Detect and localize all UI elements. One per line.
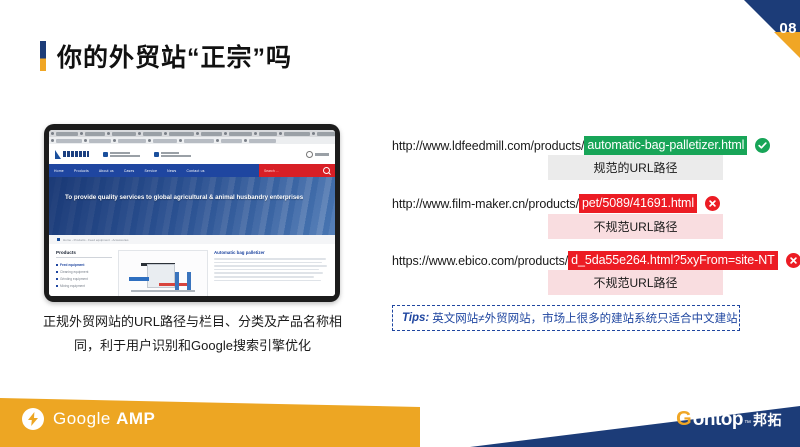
google-amp-badge: Google AMP bbox=[22, 408, 155, 430]
bookmark-favicon-icon bbox=[179, 139, 182, 142]
url-example-row-1: http://www.ldfeedmill.com/products/autom… bbox=[392, 136, 770, 155]
bookmark-favicon-icon bbox=[216, 139, 219, 142]
x-circle-icon bbox=[786, 253, 800, 268]
contact-lines bbox=[161, 152, 191, 157]
tips-callout: Tips: 英文网站≠外贸网站，市场上很多的建站系统只适合中文建站 bbox=[392, 305, 740, 331]
tips-text: 英文网站≠外贸网站，市场上很多的建站系统只适合中文建站 bbox=[432, 310, 737, 326]
url-base-text: http://www.film-maker.cn/products/ bbox=[392, 197, 579, 211]
browser-tab[interactable] bbox=[112, 132, 136, 136]
header-contact-email bbox=[103, 152, 140, 157]
browser-tab[interactable] bbox=[201, 132, 222, 136]
bookmark-item[interactable] bbox=[153, 139, 177, 143]
browser-tab[interactable] bbox=[284, 132, 310, 136]
text-line bbox=[214, 265, 327, 267]
url-highlight-segment: d_5da55e264.html?5xyFrom=site-NT bbox=[568, 251, 778, 270]
browser-tab[interactable] bbox=[143, 132, 162, 136]
site-logo[interactable] bbox=[55, 150, 89, 159]
url-status-tag-3: 不规范URL路径 bbox=[548, 270, 723, 295]
bookmark-favicon-icon bbox=[148, 139, 151, 142]
palletizer-machine-illustration bbox=[129, 262, 197, 292]
browser-tab[interactable] bbox=[56, 132, 78, 136]
breadcrumb-text: Home - Products - Feed equipment - Acces… bbox=[63, 238, 129, 242]
x-circle-icon bbox=[705, 196, 720, 211]
browser-tab[interactable] bbox=[85, 132, 105, 136]
url-status-tag-1: 规范的URL路径 bbox=[548, 155, 723, 180]
search-input[interactable]: Search ... bbox=[264, 169, 279, 173]
tab-favicon-icon bbox=[107, 132, 110, 135]
logo-wordmark bbox=[63, 151, 89, 157]
gontop-wordmark: ontop bbox=[693, 410, 743, 429]
page-number-badge: 08 bbox=[730, 0, 800, 62]
url-highlight-segment: pet/5089/41691.html bbox=[579, 194, 697, 213]
category-item[interactable]: Cleaning equipment bbox=[56, 268, 112, 275]
slide-title-block: 你的外贸站“正宗”吗 bbox=[40, 38, 292, 74]
browser-tab[interactable] bbox=[229, 132, 252, 136]
tab-favicon-icon bbox=[279, 132, 282, 135]
amp-google-label: Google bbox=[53, 409, 111, 428]
contact-lines bbox=[110, 152, 140, 157]
tab-favicon-icon bbox=[51, 132, 54, 135]
amp-label: AMP bbox=[116, 409, 155, 428]
tab-favicon-icon bbox=[138, 132, 141, 135]
tab-favicon-icon bbox=[196, 132, 199, 135]
url-example-row-2: http://www.film-maker.cn/products/pet/50… bbox=[392, 194, 720, 213]
products-heading: Products bbox=[56, 250, 112, 255]
category-item[interactable]: Feed equipment bbox=[56, 261, 112, 268]
site-breadcrumb: Home - Products - Feed equipment - Acces… bbox=[49, 235, 335, 244]
bookmark-favicon-icon bbox=[51, 139, 54, 142]
nav-item-products[interactable]: Products bbox=[69, 169, 94, 173]
gontop-g-mark: G bbox=[676, 409, 692, 429]
site-content-area: Products Feed equipment Cleaning equipme… bbox=[49, 244, 335, 296]
product-description: Automatic bag palletizer bbox=[214, 250, 328, 296]
url-base-text: https://www.ebico.com/products/ bbox=[392, 254, 568, 268]
product-detail-title: Automatic bag palletizer bbox=[214, 250, 328, 255]
browser-tab[interactable] bbox=[317, 132, 335, 136]
machine-base bbox=[131, 290, 195, 292]
bookmark-item[interactable] bbox=[184, 139, 214, 143]
hero-heading: To provide quality services to global ag… bbox=[65, 193, 303, 203]
text-line bbox=[214, 269, 319, 271]
machine-post bbox=[175, 272, 179, 290]
browser-bookmarks-bar[interactable] bbox=[49, 137, 335, 144]
home-icon bbox=[57, 238, 60, 241]
browser-tab[interactable] bbox=[169, 132, 194, 136]
nav-item-contact-us[interactable]: Contact us bbox=[181, 169, 209, 173]
tablet-caption: 正规外贸网站的URL路径与栏目、分类及产品名称相同，利于用户识别和Google搜… bbox=[40, 310, 345, 358]
slide-footer: Google AMP G ontop ™ 邦拓 bbox=[0, 395, 800, 447]
page-title: 你的外贸站“正宗”吗 bbox=[57, 38, 292, 74]
bookmark-item[interactable] bbox=[89, 139, 111, 143]
bookmark-favicon-icon bbox=[84, 139, 87, 142]
logo-mark-icon bbox=[55, 150, 61, 159]
nav-item-service[interactable]: Service bbox=[139, 169, 162, 173]
machine-blue-belt bbox=[129, 277, 149, 281]
tab-favicon-icon bbox=[164, 132, 167, 135]
site-search-box[interactable]: Search ... bbox=[259, 164, 335, 177]
bookmark-item[interactable] bbox=[118, 139, 146, 143]
search-icon[interactable] bbox=[323, 167, 330, 174]
header-contact-phone bbox=[154, 152, 191, 157]
site-navigation: Home Products About us Cases Service New… bbox=[49, 164, 335, 177]
url-base-text: http://www.ldfeedmill.com/products/ bbox=[392, 139, 584, 153]
tab-favicon-icon bbox=[312, 132, 315, 135]
tab-favicon-icon bbox=[254, 132, 257, 135]
language-label bbox=[315, 153, 329, 156]
bookmark-favicon-icon bbox=[113, 139, 116, 142]
text-line bbox=[214, 262, 322, 264]
url-status-tag-2: 不规范URL路径 bbox=[548, 214, 723, 239]
product-category-sidebar: Products Feed equipment Cleaning equipme… bbox=[56, 250, 112, 296]
tablet-device-mockup: Home Products About us Cases Service New… bbox=[44, 124, 340, 302]
browser-tab[interactable] bbox=[259, 132, 277, 136]
site-header bbox=[49, 144, 335, 164]
trademark-symbol: ™ bbox=[744, 420, 751, 427]
bookmark-favicon-icon bbox=[244, 139, 247, 142]
text-line bbox=[214, 258, 326, 260]
nav-item-about-us[interactable]: About us bbox=[94, 169, 119, 173]
tab-favicon-icon bbox=[80, 132, 83, 135]
tab-favicon-icon bbox=[224, 132, 227, 135]
text-line bbox=[214, 280, 321, 282]
product-image bbox=[118, 250, 208, 296]
gontop-brand-logo: G ontop ™ 邦拓 bbox=[676, 409, 782, 430]
lightning-bolt-icon bbox=[22, 408, 44, 430]
language-selector[interactable] bbox=[306, 151, 329, 158]
url-example-row-3: https://www.ebico.com/products/d_5da55e2… bbox=[392, 251, 800, 270]
text-line bbox=[214, 272, 323, 274]
nav-item-cases[interactable]: Cases bbox=[119, 169, 140, 173]
site-hero-banner: To provide quality services to global ag… bbox=[49, 177, 335, 235]
check-circle-icon bbox=[755, 138, 770, 153]
browser-window: Home Products About us Cases Service New… bbox=[49, 130, 335, 296]
browser-tab-strip[interactable] bbox=[49, 130, 335, 137]
corner-navy-triangle bbox=[744, 0, 800, 56]
category-item[interactable]: Mixing equipment bbox=[56, 282, 112, 289]
tips-label: Tips: bbox=[402, 312, 429, 324]
divider bbox=[56, 257, 112, 258]
machine-post bbox=[187, 272, 191, 290]
phone-icon bbox=[154, 152, 159, 157]
title-accent-bar bbox=[40, 41, 46, 71]
amp-text-block: Google AMP bbox=[53, 409, 155, 429]
category-item[interactable]: Grinding equipment bbox=[56, 275, 112, 282]
page-number: 08 bbox=[779, 20, 797, 37]
url-highlight-segment: automatic-bag-palletizer.html bbox=[584, 136, 747, 155]
nav-item-home[interactable]: Home bbox=[49, 169, 69, 173]
globe-icon bbox=[306, 151, 313, 158]
bookmark-item[interactable] bbox=[249, 139, 276, 143]
mail-icon bbox=[103, 152, 108, 157]
bookmark-item[interactable] bbox=[221, 139, 242, 143]
bookmark-item[interactable] bbox=[56, 139, 82, 143]
gontop-chinese-name: 邦拓 bbox=[753, 410, 782, 430]
corner-orange-triangle bbox=[774, 32, 800, 58]
nav-item-news[interactable]: News bbox=[162, 169, 181, 173]
text-line bbox=[214, 276, 314, 278]
